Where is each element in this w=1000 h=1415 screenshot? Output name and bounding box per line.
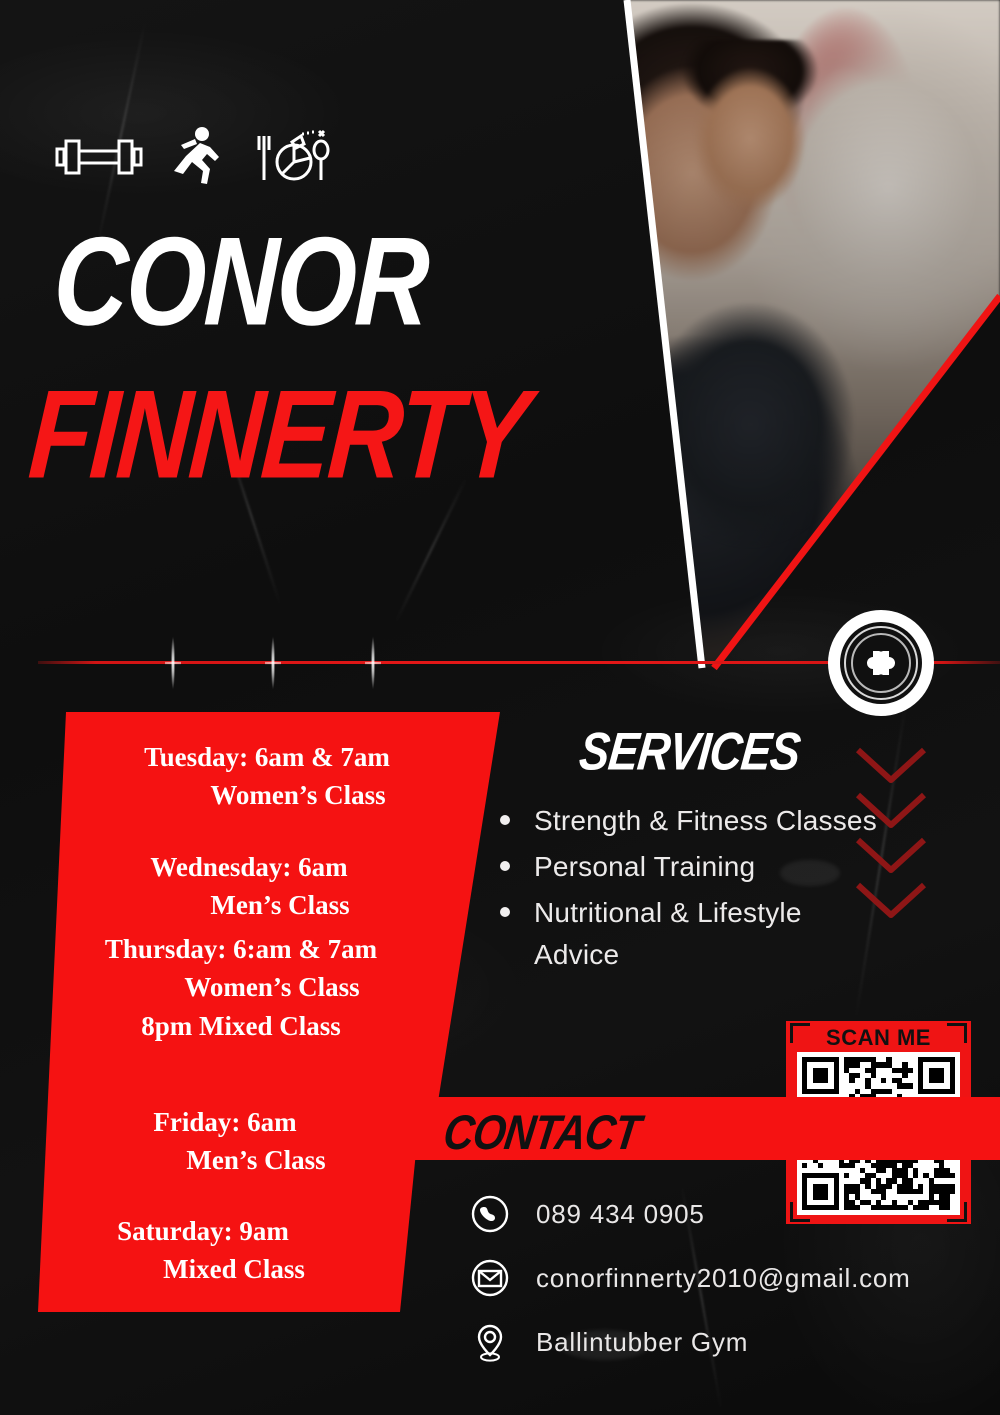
circular-emblem-logo <box>826 608 936 718</box>
bullet-icon <box>500 907 510 917</box>
service-label: Nutritional & Lifestyle Advice <box>534 897 802 971</box>
flyer-poster: CONOR FINNERTY Tuesday: 6am & 7am Women’… <box>0 0 1000 1415</box>
qr-corner-bracket <box>947 1023 967 1043</box>
gym-location: Ballintubber Gym <box>536 1327 748 1358</box>
divider-sparkle <box>165 626 181 700</box>
schedule-line: Tuesday: 6am & 7am <box>32 738 502 776</box>
email-address: conorfinnerty2010@gmail.com <box>536 1263 911 1294</box>
contact-title: CONTACT <box>440 1105 643 1161</box>
running-person-icon <box>170 126 226 188</box>
schedule-entry: Thursday: 6:am & 7am Women’s Class 8pm M… <box>6 930 476 1045</box>
schedule-line: 8pm Mixed Class <box>6 1007 476 1045</box>
schedule-entry: Friday: 6am Men’s Class <box>0 1103 460 1180</box>
schedule-line: Thursday: 6:am & 7am <box>6 930 476 968</box>
scan-me-label: SCAN ME <box>826 1026 931 1049</box>
header-icon-row <box>54 126 330 188</box>
schedule-line: Women’s Class <box>32 776 502 814</box>
schedule-line: Men’s Class <box>14 886 484 924</box>
divider-sparkle <box>365 626 381 700</box>
contact-row-phone[interactable]: 089 434 0905 <box>470 1182 990 1246</box>
contact-bar: CONTACT <box>395 1097 1000 1160</box>
chevron-down-arrows <box>846 740 956 925</box>
phone-icon <box>470 1194 510 1234</box>
bullet-icon <box>500 861 510 871</box>
qr-corner-bracket <box>790 1023 810 1043</box>
service-item: Strength & Fitness Classes <box>490 800 885 843</box>
service-label: Strength & Fitness Classes <box>534 805 877 836</box>
contact-row-location[interactable]: Ballintubber Gym <box>470 1310 990 1374</box>
contact-list: 089 434 0905 conorfinnerty2010@gmail.com… <box>470 1182 990 1374</box>
dumbbell-icon <box>54 130 144 184</box>
bullet-icon <box>500 815 510 825</box>
schedule-line: Friday: 6am <box>0 1103 460 1141</box>
schedule-entry: Tuesday: 6am & 7am Women’s Class <box>32 738 502 815</box>
schedule-line: Wednesday: 6am <box>14 848 484 886</box>
service-item: Nutritional & Lifestyle Advice <box>490 892 885 978</box>
service-label: Personal Training <box>534 851 755 882</box>
services-list: Strength & Fitness Classes Personal Trai… <box>490 800 885 980</box>
location-pin-icon <box>470 1322 510 1362</box>
contact-row-email[interactable]: conorfinnerty2010@gmail.com <box>470 1246 990 1310</box>
schedule-entry: Wednesday: 6am Men’s Class <box>14 848 484 925</box>
first-name-heading: CONOR <box>52 222 430 341</box>
schedule-entry: Saturday: 9am Mixed Class <box>0 1212 438 1289</box>
schedule-text-group: Tuesday: 6am & 7am Women’s Class Wednesd… <box>0 700 520 1325</box>
divider-sparkle <box>265 626 281 700</box>
schedule-line: Mixed Class <box>0 1250 438 1288</box>
schedule-line: Men’s Class <box>0 1141 460 1179</box>
schedule-line: Women’s Class <box>6 968 476 1006</box>
schedule-line: Saturday: 9am <box>0 1212 438 1250</box>
nutrition-icon <box>252 128 330 186</box>
services-title: SERVICES <box>577 721 803 782</box>
service-item: Personal Training <box>490 846 885 889</box>
envelope-icon <box>470 1258 510 1298</box>
phone-number: 089 434 0905 <box>536 1199 705 1230</box>
last-name-heading: FINNERTY <box>26 375 531 494</box>
